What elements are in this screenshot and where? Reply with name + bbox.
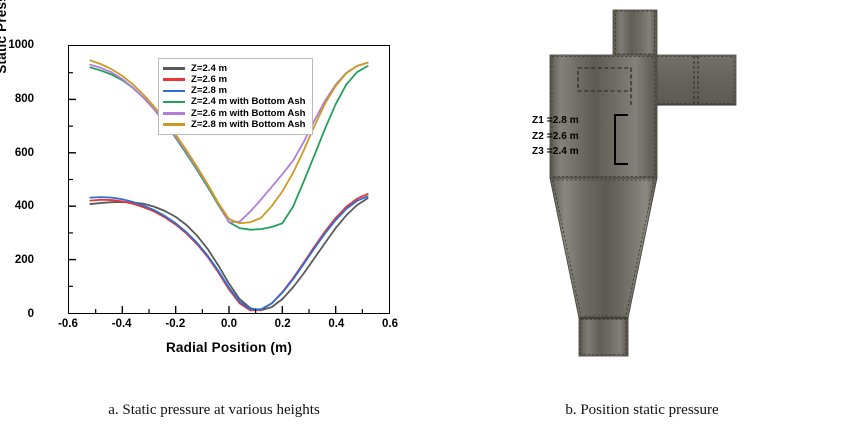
legend-item-4[interactable]: Z=2.6 m with Bottom Ash (163, 108, 306, 119)
series-line-0 (90, 198, 367, 310)
panel-b-caption: b. Position static pressure (428, 402, 856, 419)
x-tick-label: -0.4 (97, 318, 147, 330)
chart-area: Static Pressure (Pa) Radial Position (m)… (0, 0, 428, 380)
x-tick-label: 0.6 (365, 318, 415, 330)
z-label-3: Z3 =2.4 m (532, 144, 579, 160)
y-tick-label: 200 (0, 254, 34, 266)
z-range-bracket (614, 114, 628, 165)
y-tick-label: 600 (0, 147, 34, 159)
panel-a-chart: Static Pressure (Pa) Radial Position (m)… (0, 0, 428, 437)
series-line-2 (90, 196, 367, 309)
figure-container: Static Pressure (Pa) Radial Position (m)… (0, 0, 856, 437)
legend-swatch-icon (163, 123, 185, 126)
y-tick-label: 1000 (0, 39, 34, 51)
legend-item-1[interactable]: Z=2.6 m (163, 74, 306, 85)
legend-item-3[interactable]: Z=2.4 m with Bottom Ash (163, 97, 306, 108)
x-axis-label: Radial Position (m) (68, 340, 390, 355)
legend-label: Z=2.8 m (191, 86, 227, 96)
legend-label: Z=2.4 m with Bottom Ash (191, 97, 306, 107)
cyclone-diagram: Z1 =2.8 m Z2 =2.6 m Z3 =2.4 m (428, 0, 856, 380)
legend-label: Z=2.8 m with Bottom Ash (191, 120, 306, 130)
legend-swatch-icon (163, 78, 185, 81)
z-label-1: Z1 =2.8 m (532, 113, 579, 129)
y-tick-label: 0 (0, 308, 34, 320)
legend-item-5[interactable]: Z=2.8 m with Bottom Ash (163, 119, 306, 130)
legend-swatch-icon (163, 90, 185, 93)
y-tick-label: 800 (0, 93, 34, 105)
legend-label: Z=2.6 m (191, 75, 227, 85)
series-line-1 (90, 194, 367, 310)
y-tick-label: 400 (0, 200, 34, 212)
legend-swatch-icon (163, 67, 185, 70)
chart-legend: Z=2.4 mZ=2.6 mZ=2.8 mZ=2.4 m with Bottom… (158, 58, 313, 135)
legend-swatch-icon (163, 101, 185, 104)
cyclone-svg (428, 0, 856, 380)
legend-label: Z=2.4 m (191, 64, 227, 74)
x-tick-label: -0.6 (43, 318, 93, 330)
x-tick-label: 0.2 (258, 318, 308, 330)
z-position-labels: Z1 =2.8 m Z2 =2.6 m Z3 =2.4 m (532, 113, 579, 160)
legend-item-2[interactable]: Z=2.8 m (163, 85, 306, 96)
legend-swatch-icon (163, 112, 185, 115)
x-tick-label: 0.4 (311, 318, 361, 330)
panel-b-diagram: Z1 =2.8 m Z2 =2.6 m Z3 =2.4 m b. Positio… (428, 0, 856, 437)
legend-item-0[interactable]: Z=2.4 m (163, 63, 306, 74)
legend-label: Z=2.6 m with Bottom Ash (191, 109, 306, 119)
x-tick-label: -0.2 (150, 318, 200, 330)
panel-a-caption: a. Static pressure at various heights (0, 402, 428, 419)
x-tick-label: 0.0 (204, 318, 254, 330)
z-label-2: Z2 =2.6 m (532, 129, 579, 145)
